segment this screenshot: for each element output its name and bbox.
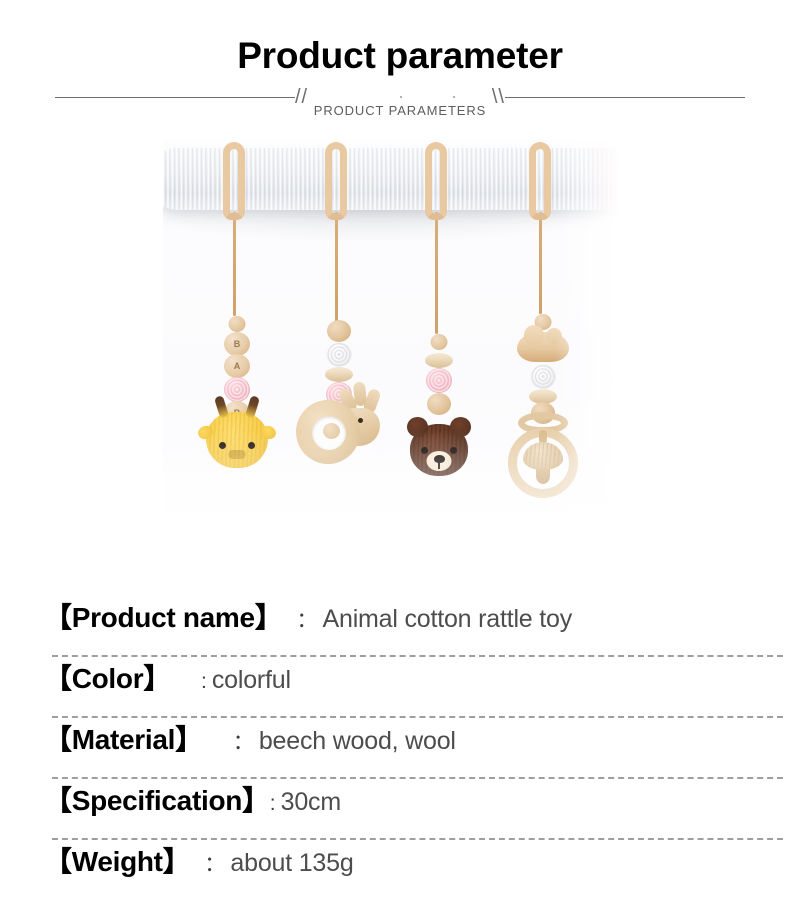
- hanger-loop: [425, 142, 447, 220]
- bead-crochet-pink-icon: [224, 377, 250, 402]
- divider-rule-left: [55, 97, 295, 98]
- giraffe-horn-icon: [245, 395, 260, 419]
- spec-label: 【Color】: [44, 657, 171, 697]
- product-photo: B A B Y: [163, 140, 625, 580]
- spec-separator: :: [270, 792, 281, 816]
- hanging-cord: [233, 212, 236, 316]
- hanger-loop: [223, 142, 245, 220]
- spec-row-specification: 【Specification】 : 30cm: [0, 779, 800, 840]
- spec-row-product-name: 【Product name】 ： Animal cotton rattle to…: [0, 596, 800, 657]
- hanging-cord: [435, 212, 438, 334]
- divider-rule-right: [505, 97, 745, 98]
- spec-value: colorful: [212, 666, 291, 695]
- divider-dot-icon: [453, 96, 455, 98]
- spec-value: 30cm: [281, 788, 341, 817]
- spec-label: 【Weight】: [44, 840, 190, 880]
- bead-wood-icon: [327, 320, 351, 342]
- bead-lentil-icon: [425, 353, 453, 368]
- spec-separator: ：: [190, 848, 230, 878]
- bead-lentil-icon: [325, 367, 353, 382]
- deer-eye-icon: [358, 418, 363, 423]
- bead-letter-icon: B: [224, 332, 250, 356]
- photo-fade-bottom: [163, 430, 625, 580]
- page-header: Product parameter // \\ PRODUCT PARAMETE…: [0, 0, 800, 135]
- product-parameter-list: 【Product name】 ： Animal cotton rattle to…: [0, 596, 800, 901]
- spec-value: beech wood, wool: [259, 727, 456, 756]
- bead-crochet-white-icon: [530, 364, 556, 389]
- hanger-loop: [529, 142, 551, 220]
- spec-row-color: 【Color】 : colorful: [0, 657, 800, 718]
- bead-crochet-pink-icon: [426, 368, 452, 393]
- spec-separator: :: [171, 670, 212, 694]
- hanger-loop: [325, 142, 347, 220]
- spec-label: 【Product name】: [44, 596, 283, 636]
- toy-crochet-giraffe: B A B Y: [177, 140, 297, 196]
- divider-dot-icon: [400, 96, 402, 98]
- spec-separator: ：: [203, 726, 259, 756]
- bead-crochet-white-icon: [326, 342, 352, 367]
- spec-value: Animal cotton rattle toy: [323, 605, 573, 634]
- toy-crochet-bear: [379, 140, 499, 192]
- bead-wood-icon: [427, 393, 451, 415]
- spec-label: 【Specification】: [44, 779, 270, 819]
- bead-wood-icon: [229, 316, 246, 332]
- spec-label: 【Material】: [44, 718, 203, 758]
- spec-separator: ：: [283, 604, 323, 634]
- hanging-cord: [539, 212, 542, 314]
- bead-letter-icon: A: [224, 354, 250, 378]
- hanging-cord: [335, 212, 338, 322]
- bead-wood-icon: [431, 334, 448, 350]
- spec-value: about 135g: [230, 849, 353, 878]
- page-subtitle: PRODUCT PARAMETERS: [0, 103, 800, 118]
- spec-row-material: 【Material】 ： beech wood, wool: [0, 718, 800, 779]
- page-title: Product parameter: [0, 34, 800, 78]
- spec-row-weight: 【Weight】 ： about 135g: [0, 840, 800, 901]
